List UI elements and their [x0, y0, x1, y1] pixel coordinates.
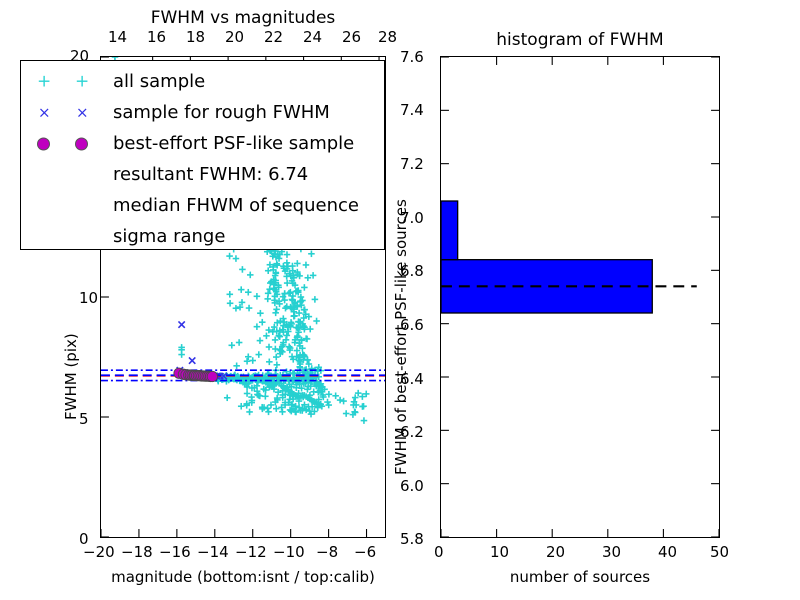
- filled-circle-marker-magenta: [29, 128, 113, 159]
- legend-entry-rough-fwhm: × × sample for rough FWHM: [29, 97, 384, 128]
- legend-label-all-sample: all sample: [113, 71, 205, 92]
- legend-label-resultant-fwhm: resultant FWHM: 6.74: [113, 164, 308, 185]
- cross-marker-blue: × ×: [29, 97, 113, 128]
- figure-canvas: FWHM vs magnitudes 14 16 18 20 22 24 26 …: [0, 0, 800, 600]
- legend-label-rough-fwhm: sample for rough FWHM: [113, 102, 330, 123]
- histogram-bar: [441, 201, 458, 260]
- dashed-line-marker-red: [29, 190, 113, 221]
- left-plot-bottom-ticks: [101, 529, 367, 537]
- legend-label-sigma-range: sigma range: [113, 226, 225, 247]
- legend-label-psf-like: best-effort PSF-like sample: [113, 133, 354, 154]
- plus-marker-cyan: + +: [29, 66, 113, 97]
- right-plot-axes: [440, 56, 720, 538]
- right-plot-xlabel: number of sources: [440, 568, 720, 586]
- legend-entry-resultant-fwhm: resultant FWHM: 6.74: [29, 159, 384, 190]
- right-plot-canvas: [441, 57, 719, 537]
- legend-entry-sigma-range: sigma range: [29, 221, 384, 252]
- left-plot-title: FWHM vs magnitudes: [100, 8, 386, 28]
- legend-label-median-fhwm: median FHWM of sequence: [113, 195, 359, 216]
- legend-entry-all-sample: + + all sample: [29, 66, 384, 97]
- right-plot-top-ticks: [497, 57, 664, 65]
- legend-entry-median-fhwm: median FHWM of sequence: [29, 190, 384, 221]
- left-plot-xlabel: magnitude (bottom:isnt / top:calib): [98, 568, 388, 586]
- legend-entry-psf-like: best-effort PSF-like sample: [29, 128, 384, 159]
- histogram-bars: [441, 201, 652, 313]
- right-plot-title: histogram of FWHM: [440, 30, 720, 50]
- left-plot-ylabel: FWHM (pix): [62, 333, 80, 420]
- right-plot-right-ticks: [711, 57, 719, 537]
- right-plot-bottom-ticks: [441, 529, 719, 537]
- dashdot-line-marker-blue: [29, 221, 113, 252]
- right-plot-ylabel: FWHM of best-effort PSF-like sources: [392, 199, 410, 475]
- dashed-line-marker-blue: [29, 159, 113, 190]
- left-plot-legend: + + all sample × × sample for rough FWHM…: [20, 60, 385, 250]
